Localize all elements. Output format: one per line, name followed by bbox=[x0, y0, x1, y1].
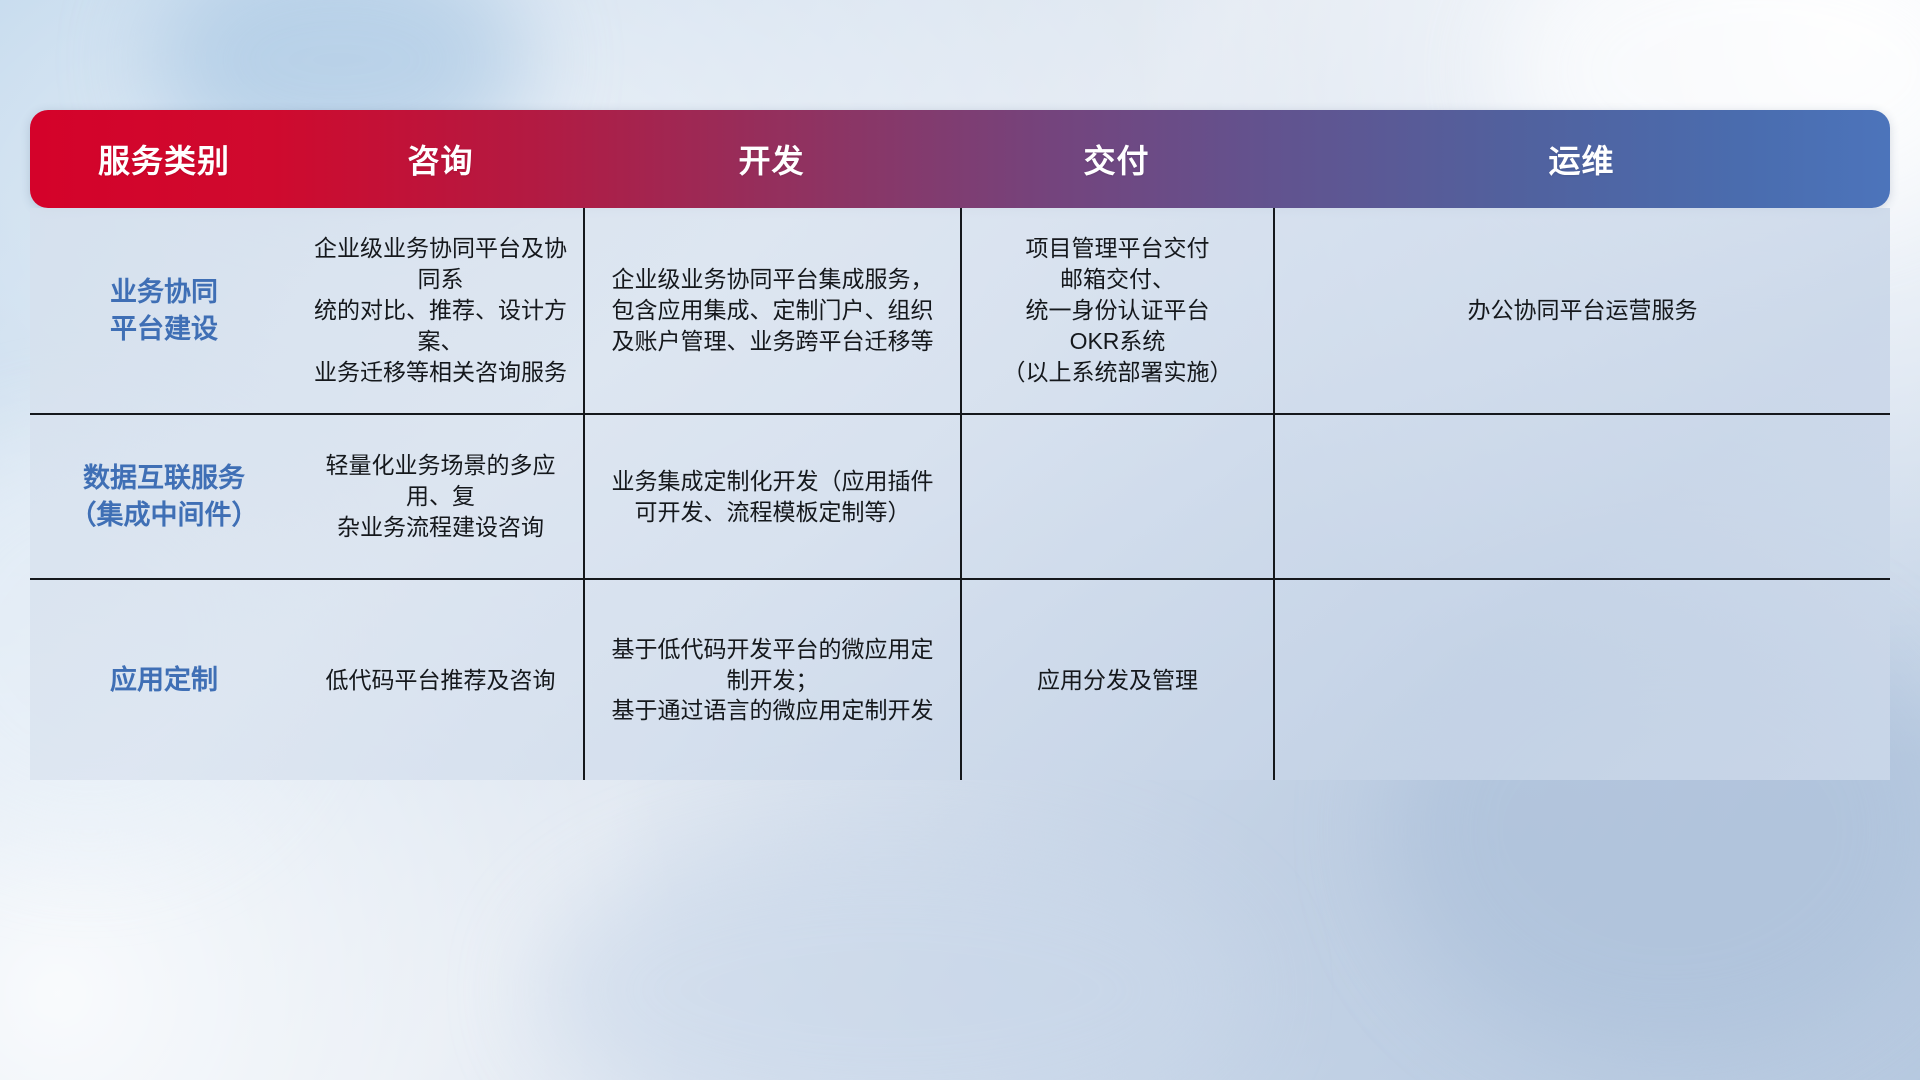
cell-row0-operations: 办公协同平台运营服务 bbox=[1273, 208, 1890, 413]
row-label-business-collaboration: 业务协同 平台建设 bbox=[30, 208, 298, 413]
table-row: 业务协同 平台建设 企业级业务协同平台及协同系 统的对比、推荐、设计方案、 业务… bbox=[30, 208, 1890, 415]
table-row: 数据互联服务 （集成中间件） 轻量化业务场景的多应用、复 杂业务流程建设咨询 业… bbox=[30, 415, 1890, 580]
cell-row1-delivery bbox=[960, 415, 1273, 578]
cell-row1-consulting: 轻量化业务场景的多应用、复 杂业务流程建设咨询 bbox=[298, 415, 583, 578]
background-blob bbox=[540, 840, 1240, 1080]
table-body: 业务协同 平台建设 企业级业务协同平台及协同系 统的对比、推荐、设计方案、 业务… bbox=[30, 208, 1890, 780]
service-matrix-table: 服务类别 咨询 开发 交付 运维 业务协同 平台建设 企业级业务协同平台及协同系… bbox=[30, 110, 1890, 780]
cell-row2-consulting: 低代码平台推荐及咨询 bbox=[298, 580, 583, 780]
cell-row1-development: 业务集成定制化开发（应用插件 可开发、流程模板定制等） bbox=[583, 415, 960, 578]
cell-row2-operations bbox=[1273, 580, 1890, 780]
cell-row1-operations bbox=[1273, 415, 1890, 578]
column-header-operations: 运维 bbox=[1273, 110, 1890, 208]
cell-row2-development: 基于低代码开发平台的微应用定 制开发； 基于通过语言的微应用定制开发 bbox=[583, 580, 960, 780]
column-header-delivery: 交付 bbox=[960, 110, 1273, 208]
table-row: 应用定制 低代码平台推荐及咨询 基于低代码开发平台的微应用定 制开发； 基于通过… bbox=[30, 580, 1890, 780]
cell-row0-development: 企业级业务协同平台集成服务， 包含应用集成、定制门户、组织 及账户管理、业务跨平… bbox=[583, 208, 960, 413]
column-header-category: 服务类别 bbox=[30, 110, 298, 208]
row-label-data-interconnect: 数据互联服务 （集成中间件） bbox=[30, 415, 298, 578]
cell-row0-delivery: 项目管理平台交付 邮箱交付、 统一身份认证平台 OKR系统 （以上系统部署实施） bbox=[960, 208, 1273, 413]
table-header-row: 服务类别 咨询 开发 交付 运维 bbox=[30, 110, 1890, 208]
row-label-app-customization: 应用定制 bbox=[30, 580, 298, 780]
column-header-consulting: 咨询 bbox=[298, 110, 583, 208]
column-header-development: 开发 bbox=[583, 110, 960, 208]
cell-row0-consulting: 企业级业务协同平台及协同系 统的对比、推荐、设计方案、 业务迁移等相关咨询服务 bbox=[298, 208, 583, 413]
cell-row2-delivery: 应用分发及管理 bbox=[960, 580, 1273, 780]
